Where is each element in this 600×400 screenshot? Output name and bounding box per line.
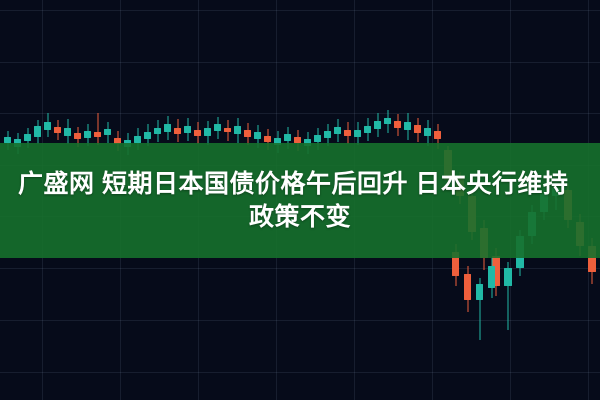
news-thumbnail-image: 广盛网 短期日本国债价格午后回升 日本央行维持 政策不变 bbox=[0, 0, 600, 400]
candlestick-body bbox=[74, 133, 81, 139]
candlestick-body bbox=[354, 130, 361, 137]
candlestick bbox=[394, 114, 401, 136]
candlestick bbox=[384, 110, 391, 133]
headline-line-2: 政策不变 bbox=[249, 201, 351, 234]
candlestick-body bbox=[144, 132, 151, 139]
candlestick-body bbox=[344, 130, 351, 136]
candlestick bbox=[204, 121, 211, 145]
candlestick bbox=[464, 266, 471, 312]
candlestick bbox=[354, 122, 361, 145]
candlestick-body bbox=[488, 266, 495, 288]
candlestick bbox=[214, 117, 221, 139]
candlestick bbox=[504, 262, 512, 330]
candlestick bbox=[104, 122, 111, 143]
candlestick bbox=[34, 120, 41, 144]
candlestick-body bbox=[64, 128, 71, 136]
candlestick bbox=[64, 119, 71, 144]
candlestick-body bbox=[224, 128, 231, 132]
candlestick-body bbox=[34, 126, 41, 137]
candlestick bbox=[364, 118, 371, 141]
candlestick-body bbox=[84, 131, 91, 138]
candlestick bbox=[224, 120, 231, 141]
candlestick-body bbox=[504, 268, 512, 286]
candlestick-body bbox=[94, 132, 101, 137]
headline-banner: 广盛网 短期日本国债价格午后回升 日本央行维持 政策不变 bbox=[0, 143, 600, 258]
candlestick-body bbox=[184, 126, 191, 133]
candlestick bbox=[374, 113, 381, 137]
candlestick bbox=[476, 278, 483, 340]
candlestick bbox=[414, 118, 421, 142]
candlestick bbox=[488, 258, 495, 298]
candlestick bbox=[334, 119, 341, 142]
candlestick-body bbox=[54, 127, 61, 133]
candlestick bbox=[234, 118, 241, 143]
candlestick bbox=[54, 120, 61, 140]
candlestick-body bbox=[264, 136, 271, 142]
candlestick-body bbox=[214, 124, 221, 131]
candlestick-body bbox=[314, 135, 321, 142]
candlestick-body bbox=[384, 118, 391, 124]
candlestick-body bbox=[254, 132, 261, 139]
candlestick-body bbox=[394, 121, 401, 128]
candlestick-wick bbox=[97, 113, 98, 145]
candlestick-body bbox=[324, 131, 331, 138]
candlestick-body bbox=[234, 126, 241, 134]
candlestick-body bbox=[284, 134, 291, 141]
candlestick-body bbox=[334, 127, 341, 134]
candlestick-body bbox=[194, 130, 201, 136]
candlestick-body bbox=[404, 122, 411, 130]
candlestick bbox=[44, 113, 51, 137]
candlestick-body bbox=[164, 124, 171, 132]
candlestick-body bbox=[424, 128, 431, 136]
candlestick-body bbox=[154, 128, 161, 134]
candlestick-body bbox=[414, 125, 421, 133]
candlestick-body bbox=[464, 274, 471, 300]
candlestick-body bbox=[134, 136, 141, 143]
candlestick-body bbox=[104, 129, 111, 135]
candlestick-body bbox=[244, 130, 251, 137]
candlestick bbox=[174, 119, 181, 142]
candlestick-body bbox=[374, 121, 381, 129]
candlestick-body bbox=[174, 128, 181, 134]
candlestick-body bbox=[24, 134, 31, 141]
candlestick-body bbox=[434, 131, 441, 139]
candlestick bbox=[94, 113, 101, 145]
candlestick bbox=[164, 116, 171, 140]
headline-line-1: 广盛网 短期日本国债价格午后回升 日本央行维持 bbox=[6, 168, 568, 201]
candlestick-body bbox=[44, 122, 51, 130]
candlestick bbox=[194, 122, 201, 144]
candlestick-body bbox=[364, 126, 371, 133]
candlestick bbox=[404, 113, 411, 140]
candlestick bbox=[244, 123, 251, 145]
candlestick-body bbox=[204, 128, 211, 136]
candlestick bbox=[154, 120, 161, 142]
candlestick bbox=[344, 122, 351, 144]
candlestick-body bbox=[476, 284, 483, 300]
candlestick bbox=[184, 118, 191, 141]
